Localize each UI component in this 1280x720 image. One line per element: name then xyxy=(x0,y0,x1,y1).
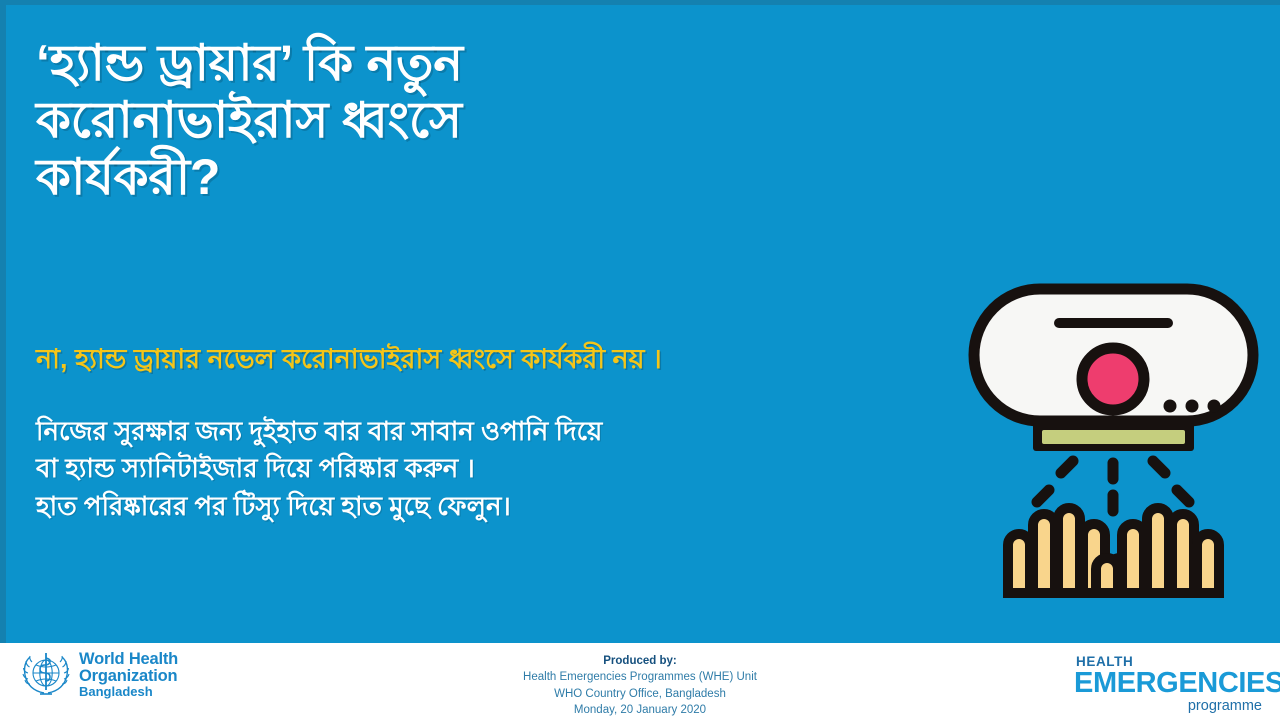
advice-line-1: নিজের সুরক্ষার জন্য দুইহাত বার বার সাবান… xyxy=(36,413,936,450)
dryer-slot-bar xyxy=(1054,318,1173,328)
poster-footer: World Health Organization Bangladesh Pro… xyxy=(0,643,1280,720)
credits-line-2: WHO Country Office, Bangladesh xyxy=(430,686,850,702)
hep-emergencies-label: EMERGENCIES xyxy=(1074,669,1264,699)
who-name-line-1: World Health xyxy=(79,651,178,668)
poster-blue-panel: ‘হ্যান্ড ড্রায়ার’ কি নতুন করোনাভাইরাস ধ… xyxy=(0,0,1280,643)
who-logo: World Health Organization Bangladesh xyxy=(20,649,178,701)
health-emergencies-programme-logo: HEALTH EMERGENCIES programme xyxy=(1074,655,1264,715)
right-hand-shape xyxy=(1096,508,1219,593)
produced-by-credits: Produced by: Health Emergencies Programm… xyxy=(430,653,850,718)
hand-dryer-illustration xyxy=(961,273,1266,603)
advice-line-3: হাত পরিষ্কারের পর টিস্যু দিয়ে হাত মুছে … xyxy=(36,488,936,525)
advice-line-2: বা হ্যান্ড স্যানিটাইজার দিয়ে পরিষ্কার ক… xyxy=(36,450,936,487)
credits-line-3: Monday, 20 January 2020 xyxy=(430,702,850,718)
credits-line-1: Health Emergencies Programmes (WHE) Unit xyxy=(430,669,850,685)
air-stream-dashes xyxy=(1037,461,1189,511)
dryer-indicator-dots xyxy=(1164,400,1221,413)
poster-root: ‘হ্যান্ড ড্রায়ার’ কি নতুন করোনাভাইরাস ধ… xyxy=(0,0,1280,720)
answer-statement: না, হ্যান্ড ড্রায়ার নভেল করোনাভাইরাস ধ্… xyxy=(36,343,936,375)
page-title: ‘হ্যান্ড ড্রায়ার’ কি নতুন করোনাভাইরাস ধ… xyxy=(36,35,736,206)
who-country-label: Bangladesh xyxy=(79,685,178,699)
advice-text-block: নিজের সুরক্ষার জন্য দুইহাত বার বার সাবান… xyxy=(36,413,936,525)
who-name-line-2: Organization xyxy=(79,668,178,685)
who-wordmark: World Health Organization Bangladesh xyxy=(79,649,178,699)
hep-programme-label: programme xyxy=(1074,699,1262,714)
dryer-vent-strip xyxy=(1033,423,1194,451)
who-emblem-icon xyxy=(20,649,72,701)
credits-title: Produced by: xyxy=(430,653,850,669)
dryer-power-button xyxy=(1082,348,1144,410)
